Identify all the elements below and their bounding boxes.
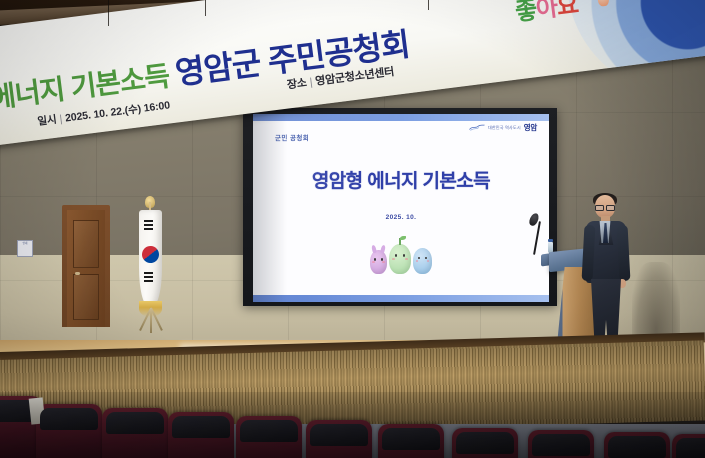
auditorium-seat — [102, 408, 168, 458]
auditorium-seat — [306, 420, 372, 458]
speaker-arm-right — [617, 225, 631, 281]
flag-tripod — [137, 308, 165, 334]
projection-screen: 군민 공청회 대한민국 역사도시 영암 영암형 에너지 기본소득 2025. 1… — [243, 108, 557, 306]
eyeglasses-icon — [595, 205, 615, 209]
auditorium-seat — [672, 434, 705, 458]
slogan-char-4: 좋 — [514, 0, 538, 26]
door-panel — [67, 210, 105, 327]
taegukgi-flag-icon — [139, 210, 162, 306]
slide-date: 2025. 10. — [253, 214, 549, 221]
yeongam-logo: 대한민국 역사도시 영암 — [469, 122, 537, 133]
auditorium-seat — [452, 428, 518, 458]
slide-accent-bar-top — [253, 114, 549, 121]
door-inset-lower — [73, 274, 99, 320]
banner-place-label: 장소 — [286, 77, 307, 91]
auditorium-seat — [168, 412, 234, 458]
mascot-green-icon — [389, 244, 411, 274]
slide-title: 영암형 에너지 기본소득 — [253, 166, 549, 193]
auditorium-seating — [0, 392, 705, 458]
slogan-char-6: 요 — [555, 0, 579, 21]
speaker-person — [580, 195, 636, 355]
banner-hanging-string — [205, 0, 206, 16]
logo-name: 영암 — [524, 122, 537, 133]
banner-date-label: 일시 — [37, 114, 57, 128]
slide-mascot-group — [253, 244, 549, 274]
photo-scene: 안내 군민 공청회 — [0, 0, 705, 458]
logo-subtitle: 대한민국 역사도시 — [488, 125, 521, 131]
wall-notice-sign: 안내 — [17, 240, 33, 257]
auditorium-seat — [236, 416, 302, 458]
banner-hanging-string — [428, 0, 429, 10]
slide-accent-bar-bottom — [253, 295, 549, 302]
auditorium-seat — [604, 432, 670, 458]
stage-door — [62, 205, 110, 327]
mascot-blue-icon — [413, 248, 432, 274]
korean-flag-stand — [128, 196, 174, 336]
logo-wave-icon — [469, 124, 485, 131]
door-handle — [75, 272, 80, 275]
slide-eyebrow-label: 군민 공청회 — [275, 132, 309, 142]
mascot-purple-icon — [370, 250, 387, 274]
taeguk-circle — [140, 244, 161, 265]
auditorium-seat — [36, 404, 102, 458]
banner-hanging-string — [108, 0, 109, 26]
slogan-char-5: 아 — [534, 0, 558, 23]
auditorium-seat — [378, 424, 444, 458]
door-inset-upper — [73, 220, 99, 268]
auditorium-seat — [528, 430, 594, 458]
slide-surface: 군민 공청회 대한민국 역사도시 영암 영암형 에너지 기본소득 2025. 1… — [253, 114, 549, 302]
